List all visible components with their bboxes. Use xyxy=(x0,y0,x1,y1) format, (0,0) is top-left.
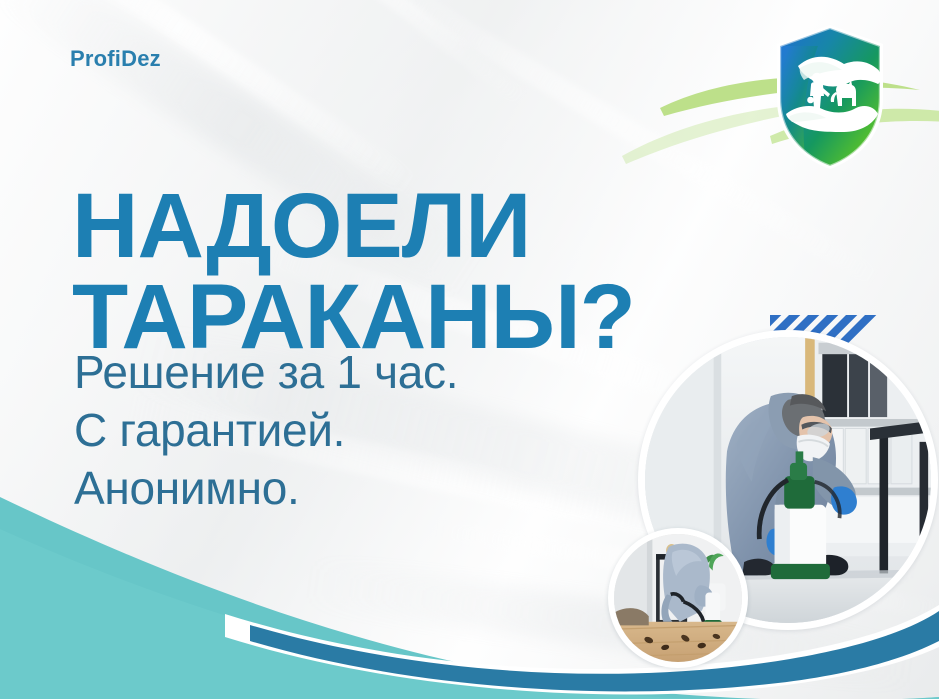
advertisement-poster: ProfiDez НАДОЕЛИ ТАРАКАНЫ? Решение за 1 … xyxy=(0,0,939,699)
shield-hands-child-pet-logo xyxy=(770,22,890,172)
brand-name: ProfiDez xyxy=(70,46,161,72)
cockroach-floor-treatment-photo xyxy=(608,528,748,668)
headline-line-1: НАДОЕЛИ xyxy=(72,175,530,277)
